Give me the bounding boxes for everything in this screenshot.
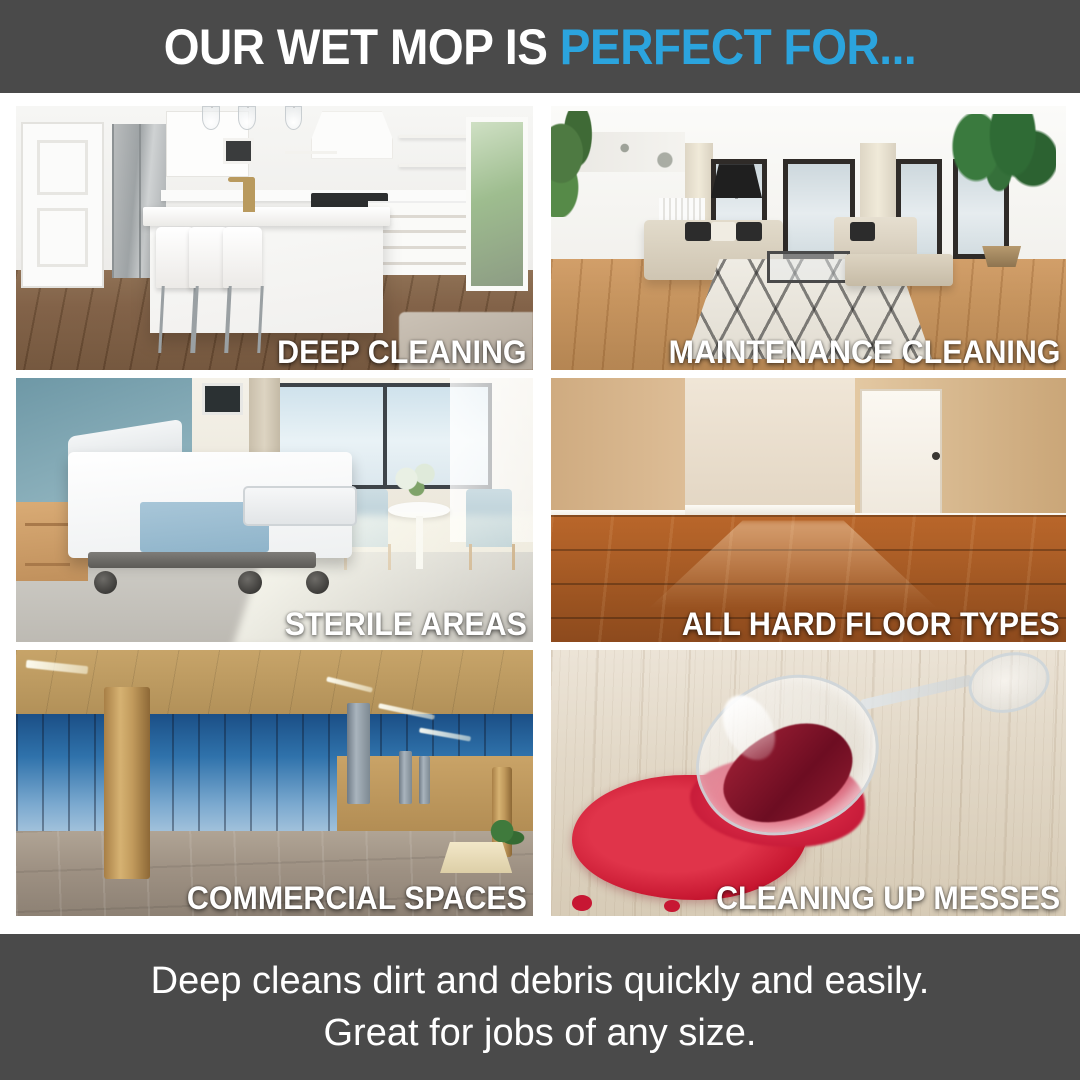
infographic-page: OUR WET MOP IS PERFECT FOR... xyxy=(0,0,1080,1080)
grid-cell-all-hard-floor-types: ALL HARD FLOOR TYPES xyxy=(551,378,1066,642)
cell-caption: DEEP CLEANING xyxy=(278,336,527,368)
grid-cell-commercial-spaces: COMMERCIAL SPACES xyxy=(16,650,533,916)
page-title: OUR WET MOP IS PERFECT FOR... xyxy=(164,22,917,72)
cell-caption: COMMERCIAL SPACES xyxy=(187,882,527,914)
cell-caption: MAINTENANCE CLEANING xyxy=(668,336,1060,368)
cell-caption: ALL HARD FLOOR TYPES xyxy=(682,608,1060,640)
footer-line-2: Great for jobs of any size. xyxy=(324,1007,757,1059)
page-title-white-part: OUR WET MOP IS xyxy=(164,19,560,75)
hospital-room-photo xyxy=(16,378,533,642)
footer-line-1: Deep cleans dirt and debris quickly and … xyxy=(151,955,930,1007)
grid-cell-sterile-areas: STERILE AREAS xyxy=(16,378,533,642)
page-title-accent-part: PERFECT FOR... xyxy=(560,19,916,75)
grid-cell-deep-cleaning: DEEP CLEANING xyxy=(16,106,533,370)
wine-spill-photo xyxy=(551,650,1066,916)
living-room-photo xyxy=(551,106,1066,370)
header-bar: OUR WET MOP IS PERFECT FOR... xyxy=(0,0,1080,93)
hardwood-floor-photo xyxy=(551,378,1066,642)
grid-cell-maintenance-cleaning: MAINTENANCE CLEANING xyxy=(551,106,1066,370)
cell-caption: CLEANING UP MESSES xyxy=(716,882,1060,914)
footer-bar: Deep cleans dirt and debris quickly and … xyxy=(0,934,1080,1080)
feature-grid: DEEP CLEANING xyxy=(16,106,1066,918)
commercial-lobby-photo xyxy=(16,650,533,916)
cell-caption: STERILE AREAS xyxy=(285,608,527,640)
kitchen-photo xyxy=(16,106,533,370)
grid-cell-cleaning-up-messes: CLEANING UP MESSES xyxy=(551,650,1066,916)
